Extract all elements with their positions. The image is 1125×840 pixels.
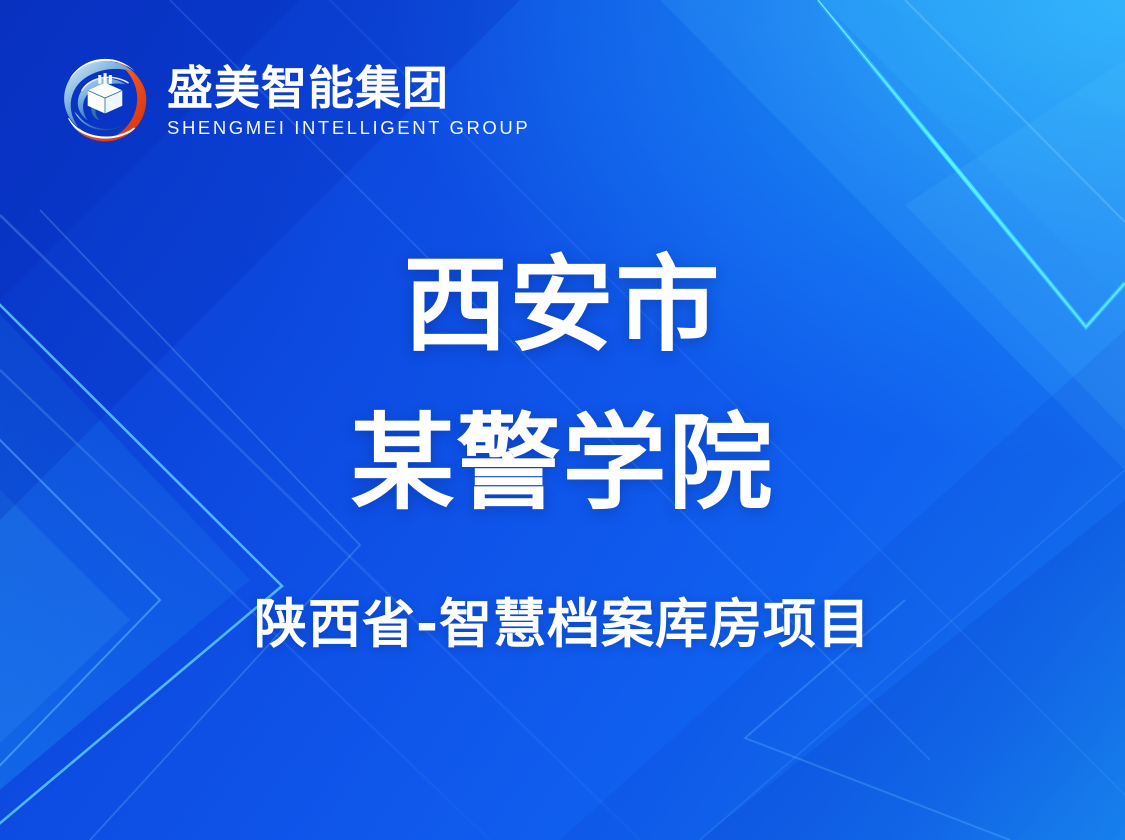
bg-soft-line-topright (905, 0, 1125, 222)
logo-wordmark: 盛美智能集团 SHENGMEI INTELLIGENT GROUP (167, 63, 530, 138)
headline-line-2: 某警学院 (0, 406, 1125, 520)
logo-company-name-cn: 盛美智能集团 (167, 65, 530, 112)
logo-white-arc-2 (69, 119, 134, 137)
shengmei-globe-archive-logo-icon (57, 52, 153, 148)
headline-line-1: 西安市 (0, 248, 1125, 362)
logo-company-name-en: SHENGMEI INTELLIGENT GROUP (167, 119, 530, 138)
logo-archive-box-icon (88, 73, 123, 113)
bg-chevron-bottom-right-2 (700, 470, 1125, 840)
project-cover-slide: 盛美智能集团 SHENGMEI INTELLIGENT GROUP 西安市 某警… (0, 0, 1125, 840)
bg-panel-bottom-right (700, 500, 1125, 840)
headline-block: 西安市 某警学院 (0, 248, 1125, 521)
project-subtitle: 陕西省-智慧档案库房项目 (0, 596, 1125, 654)
company-logo: 盛美智能集团 SHENGMEI INTELLIGENT GROUP (57, 52, 530, 148)
bg-panel-upper-band (820, 0, 1125, 120)
